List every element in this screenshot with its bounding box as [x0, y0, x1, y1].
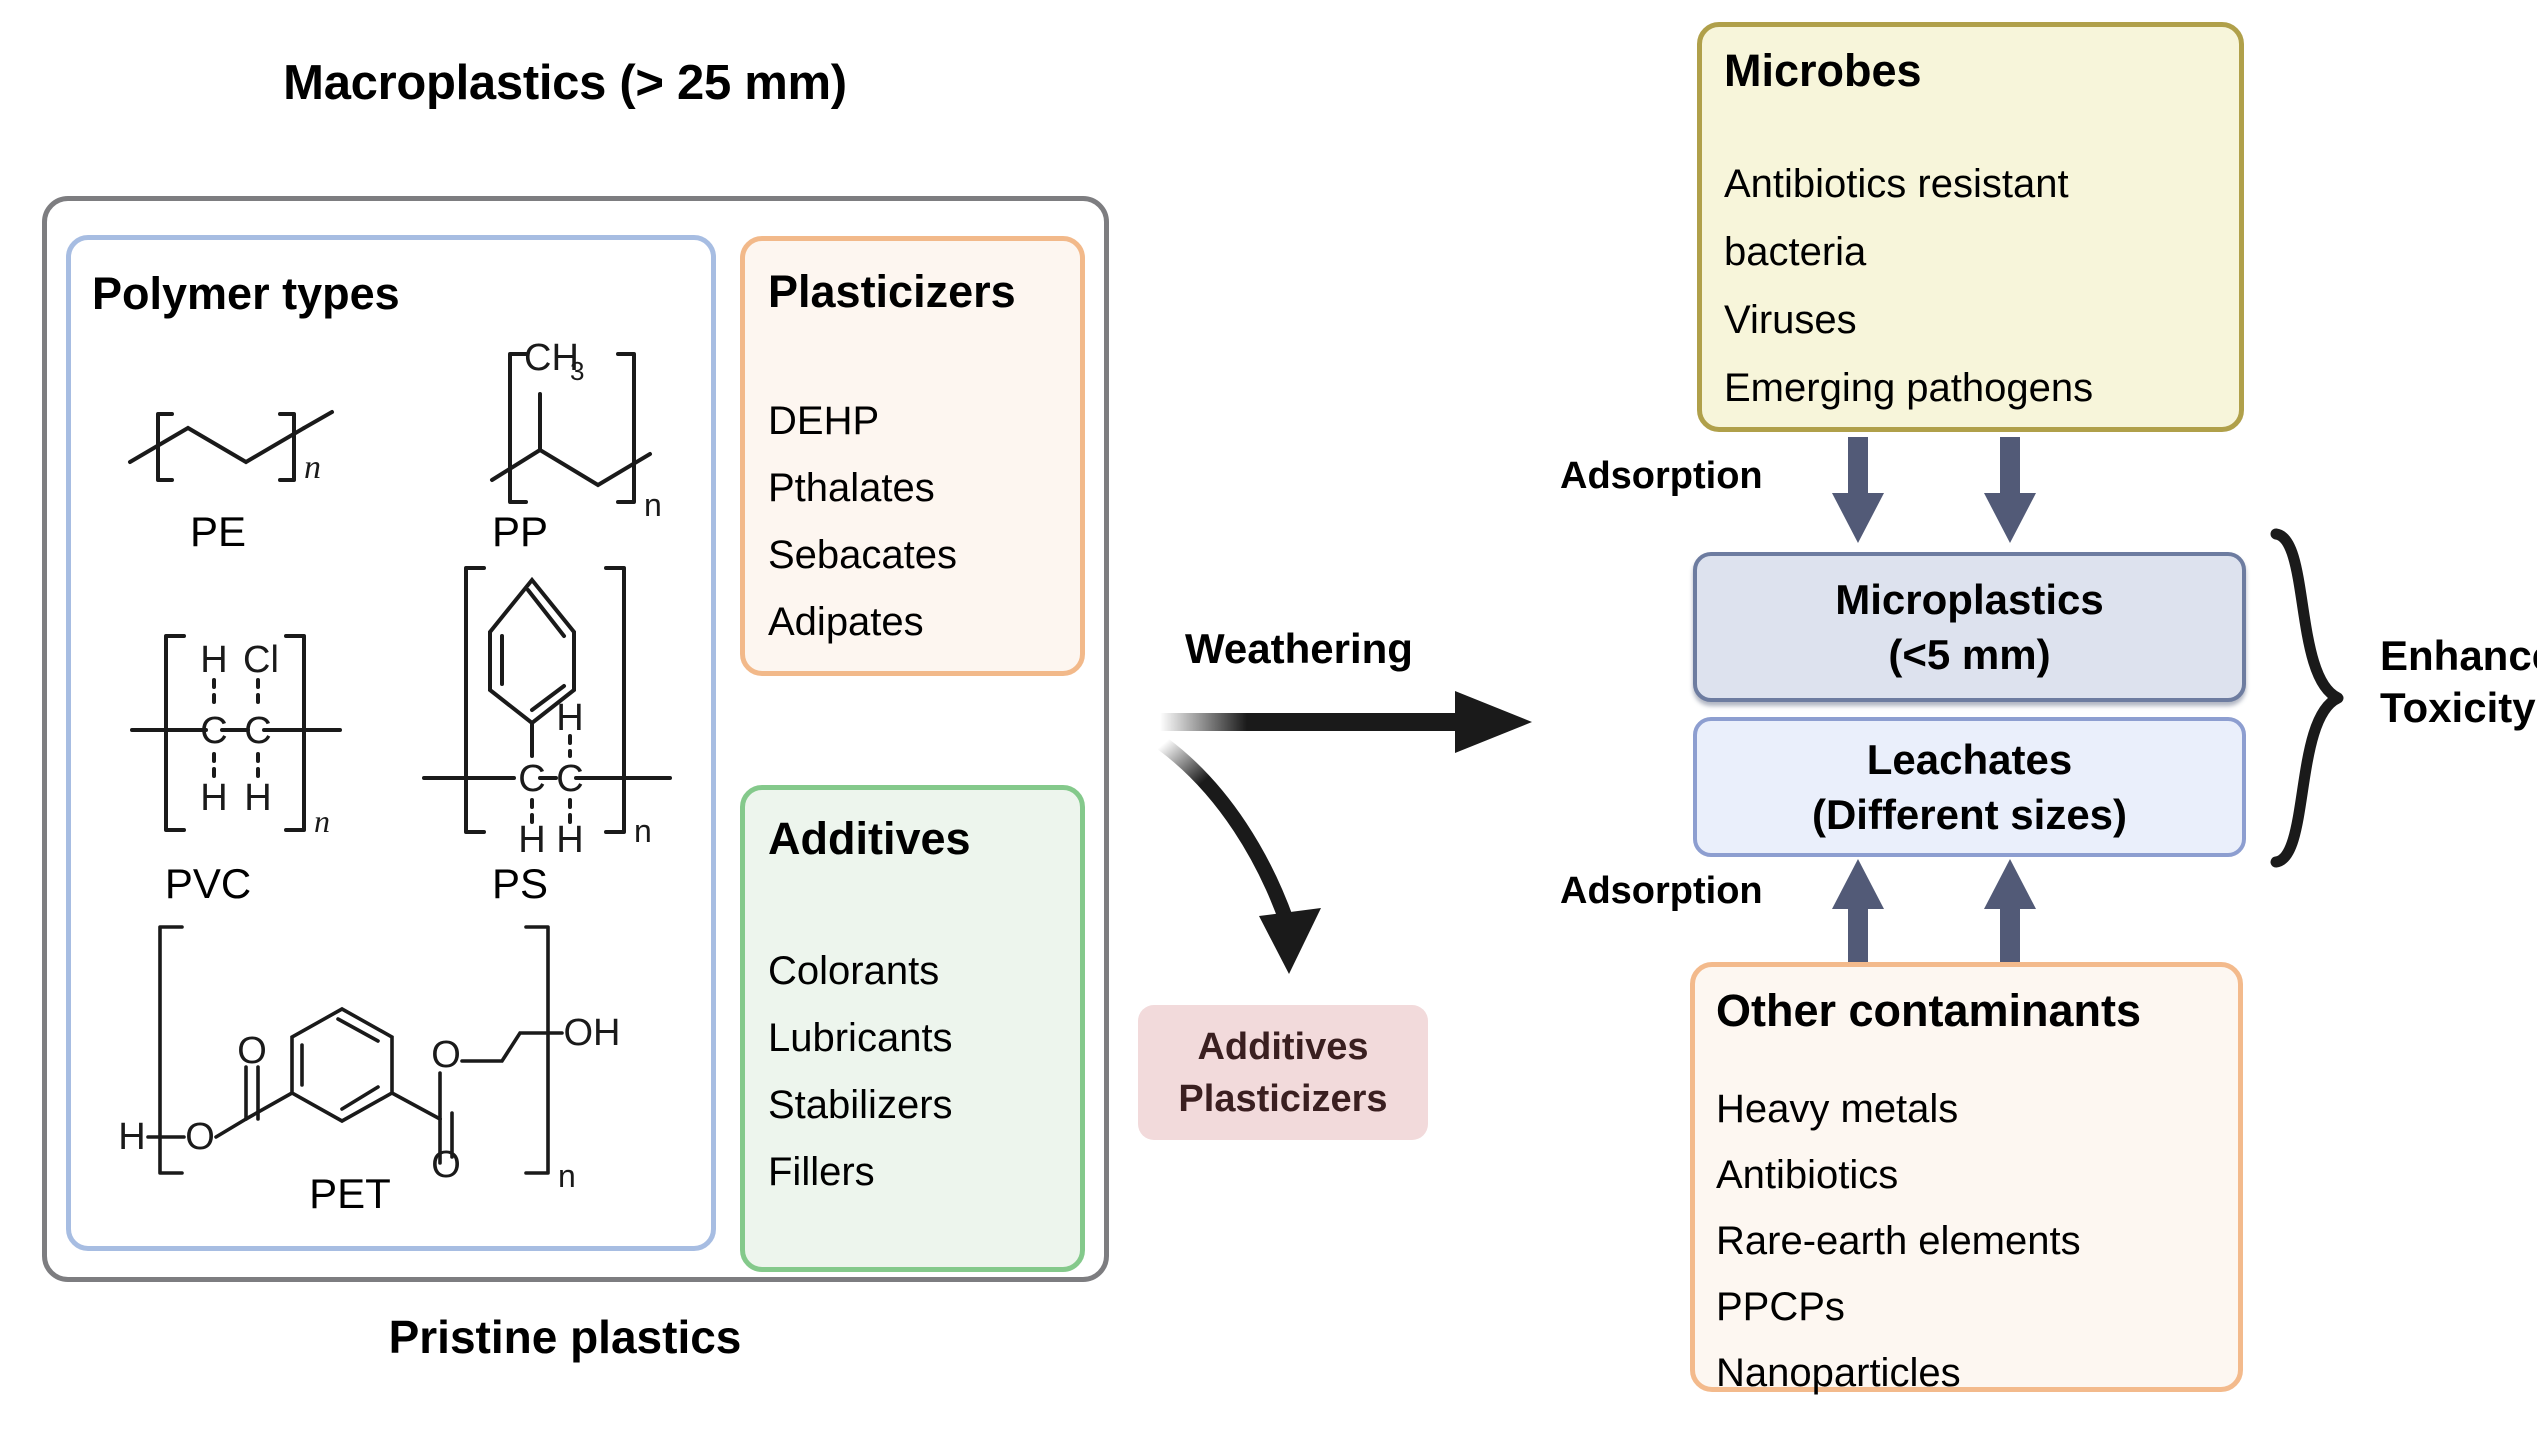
pet-atom-o-ester-right: O [431, 1034, 461, 1076]
pe-subscript-n: n [304, 449, 321, 486]
microplastics-line1: Microplastics [1835, 572, 2103, 627]
released-additives-plasticizers-box: Additives Plasticizers [1138, 1005, 1428, 1140]
microplastics-line2: (<5 mm) [1888, 627, 2050, 682]
list-item: bacteria [1724, 218, 2093, 286]
list-item: Antibiotics resistant [1724, 150, 2093, 218]
pet-atom-oh: OH [564, 1012, 621, 1054]
pe-label: PE [118, 508, 318, 556]
ps-atom-h-bl: H [518, 819, 545, 861]
enhanced-toxicity-label: Enhanced Toxicity [2380, 630, 2537, 734]
list-item: Heavy metals [1716, 1076, 2081, 1142]
ps-atom-c-right: C [556, 758, 583, 800]
adsorption-bottom-label: Adsorption [1560, 870, 1763, 913]
list-item: Fillers [768, 1139, 953, 1206]
microbes-title: Microbes [1724, 45, 1922, 97]
adsorption-up-arrow-1-icon [1828, 855, 1888, 965]
pp-subscript-n: n [644, 487, 662, 523]
adsorption-up-arrow-2-icon [1980, 855, 2040, 965]
list-item: Antibiotics [1716, 1142, 2081, 1208]
list-item: Emerging pathogens [1724, 354, 2093, 422]
polymer-types-title: Polymer types [92, 268, 400, 320]
pet-structure-icon: H O O O O OH n [110, 915, 670, 1205]
ps-label: PS [420, 860, 620, 908]
pvc-atom-h-top: H [200, 639, 227, 681]
pvc-atom-h-br: H [244, 777, 271, 819]
adsorption-top-label: Adsorption [1560, 455, 1763, 498]
plasticizers-title: Plasticizers [768, 266, 1016, 318]
list-item: Colorants [768, 938, 953, 1005]
list-item: PPCPs [1716, 1274, 2081, 1340]
pvc-atom-c-right: C [244, 710, 271, 752]
ps-atom-h-br: H [556, 819, 583, 861]
pp-label: PP [420, 508, 620, 556]
pvc-atom-c-left: C [200, 710, 227, 752]
enhanced-toxicity-line2: Toxicity [2380, 682, 2537, 734]
ps-atom-c-left: C [518, 758, 545, 800]
pristine-plastics-label: Pristine plastics [0, 1310, 1130, 1364]
ps-structure-icon: H C C H H n [418, 560, 688, 880]
leachates-line1: Leachates [1867, 732, 2072, 787]
ps-atom-h-top: H [556, 697, 583, 739]
pvc-label: PVC [108, 860, 308, 908]
pp-ch3-subscript: 3 [570, 356, 584, 386]
weathering-curved-arrow-icon [1155, 730, 1415, 1000]
pet-atom-h: H [118, 1116, 145, 1158]
leachates-line2: (Different sizes) [1812, 787, 2127, 842]
pvc-structure-icon: H Cl C C H H n [118, 618, 368, 868]
microplastics-card: Microplastics (<5 mm) [1693, 552, 2246, 702]
adsorption-down-arrow-2-icon [1980, 437, 2040, 547]
weathering-label: Weathering [1185, 625, 1413, 673]
other-contaminants-title: Other contaminants [1716, 985, 2141, 1037]
leachates-card: Leachates (Different sizes) [1693, 717, 2246, 857]
additives-title: Additives [768, 813, 971, 865]
list-item: Pthalates [768, 455, 957, 522]
released-line2: Plasticizers [1178, 1073, 1387, 1125]
enhanced-toxicity-line1: Enhanced [2380, 630, 2537, 682]
list-item: Rare-earth elements [1716, 1208, 2081, 1274]
pp-structure-icon: CH 3 n [448, 330, 688, 520]
other-contaminants-list: Heavy metals Antibiotics Rare-earth elem… [1716, 1076, 2081, 1406]
pet-atom-o-ester-left: O [185, 1116, 215, 1158]
pe-structure-icon: n [118, 370, 378, 505]
pvc-atom-h-bl: H [200, 777, 227, 819]
microbes-list: Antibiotics resistant bacteria Viruses E… [1724, 150, 2093, 422]
list-item: Viruses [1724, 286, 2093, 354]
list-item: DEHP [768, 388, 957, 455]
additives-list: Colorants Lubricants Stabilizers Fillers [768, 938, 953, 1206]
list-item: Lubricants [768, 1005, 953, 1072]
pvc-subscript-n: n [314, 803, 330, 839]
list-item: Stabilizers [768, 1072, 953, 1139]
ps-subscript-n: n [634, 813, 652, 849]
pet-subscript-n: n [558, 1158, 576, 1194]
released-line1: Additives [1197, 1021, 1368, 1073]
enhanced-toxicity-brace-icon [2264, 528, 2364, 868]
list-item: Adipates [768, 589, 957, 656]
pet-atom-o-carbonyl-left: O [237, 1030, 267, 1072]
adsorption-down-arrow-1-icon [1828, 437, 1888, 547]
list-item: Nanoparticles [1716, 1340, 2081, 1406]
pet-label: PET [250, 1170, 450, 1218]
pvc-atom-cl: Cl [243, 639, 279, 681]
page-title: Macroplastics (> 25 mm) [0, 55, 1130, 111]
plasticizers-list: DEHP Pthalates Sebacates Adipates [768, 388, 957, 656]
list-item: Sebacates [768, 522, 957, 589]
